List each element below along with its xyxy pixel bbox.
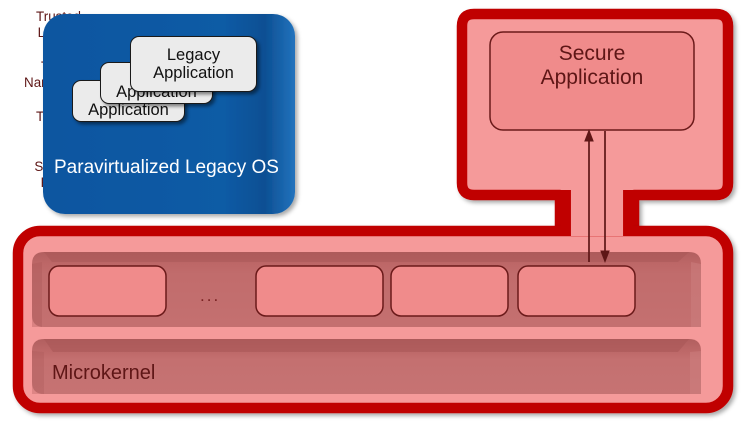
secure-application-label: Secure Application [494,42,690,91]
services-ellipsis: ... [200,286,220,306]
service-box-trusted-name-server[interactable] [256,266,383,316]
microkernel-label: Microkernel [52,362,155,384]
architecture-diagram: Legacy Application Legacy Application Le… [0,0,750,426]
secure-domain-stem-fill [566,190,629,236]
paravirtualized-legacy-os-label: Paravirtualized Legacy OS [54,157,279,178]
service-box-trusted-gui[interactable] [391,266,508,316]
legacy-application-label-front: Legacy Application [153,46,234,82]
service-box-security-policy[interactable] [518,266,635,316]
service-box-trusted-loader[interactable] [49,266,166,316]
legacy-application-box-front[interactable]: Legacy Application [130,36,257,92]
